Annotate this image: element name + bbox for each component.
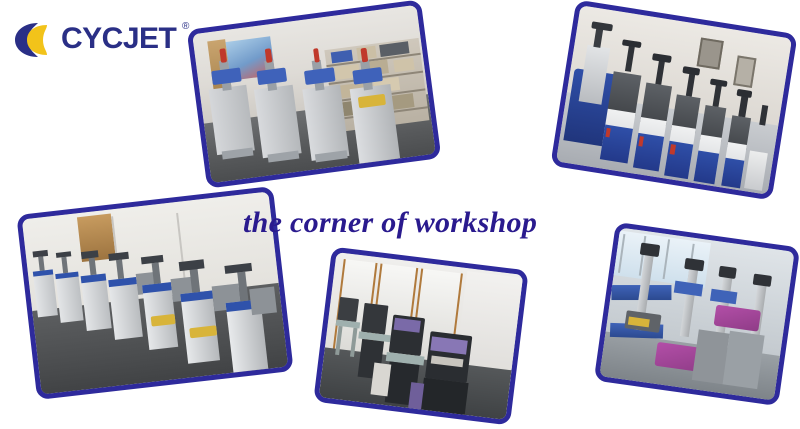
- photo-scene: [192, 5, 436, 183]
- cycjet-logo-icon: [14, 21, 64, 59]
- photo-scene: [599, 227, 794, 400]
- page-title: the corner of workshop: [243, 206, 623, 240]
- photo-machine-line-blue[interactable]: [550, 0, 798, 200]
- photo-workshop-row-a[interactable]: [187, 0, 442, 189]
- brand-wordmark: CYCJET: [61, 22, 176, 56]
- photo-scene: [556, 5, 792, 195]
- photo-scene: [319, 252, 523, 420]
- brand-logo: CYCJET ®: [14, 18, 204, 64]
- collage-canvas: CYCJET ®: [0, 0, 800, 429]
- photo-dark-printers[interactable]: [313, 247, 529, 426]
- scene-wall-frame: [697, 37, 725, 70]
- photo-conveyor-line[interactable]: [594, 222, 800, 406]
- registered-trademark-symbol: ®: [182, 22, 189, 32]
